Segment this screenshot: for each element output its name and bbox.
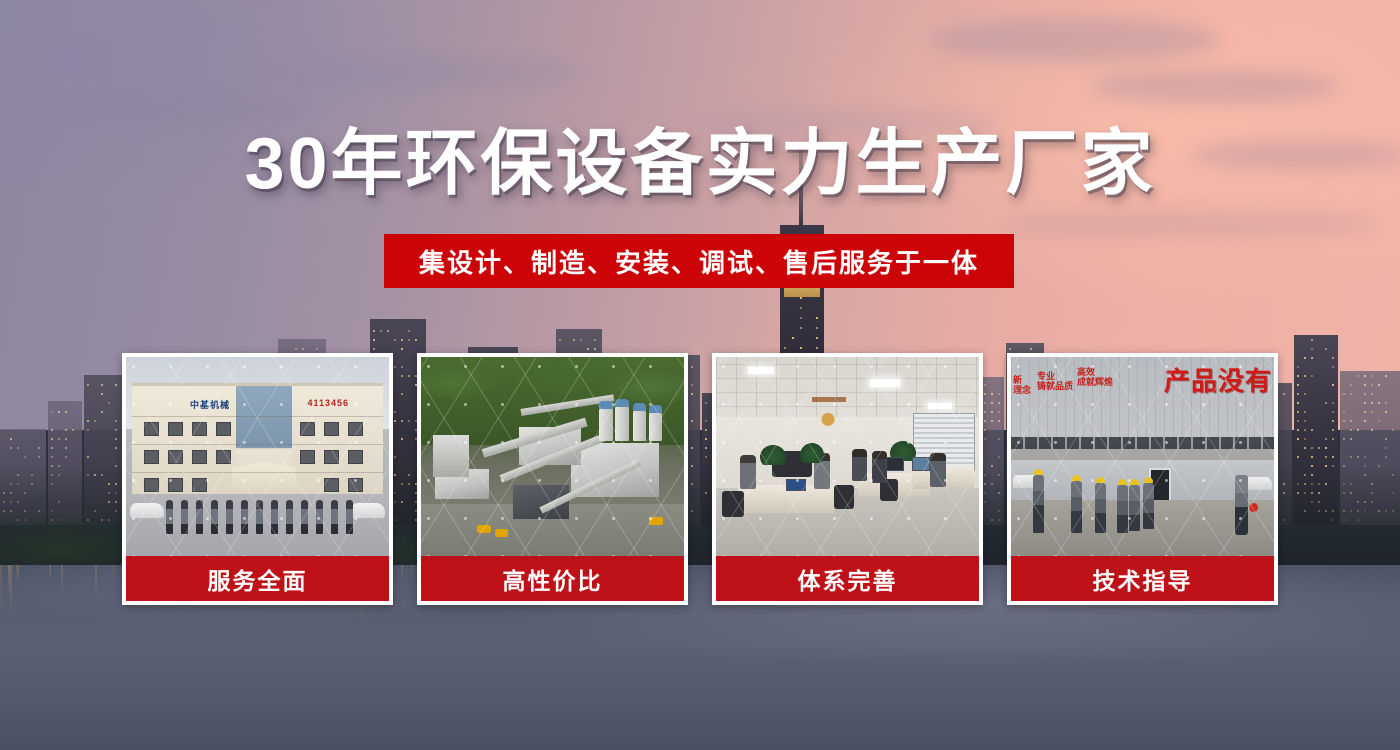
photo-1-window bbox=[324, 478, 339, 492]
building-window-light bbox=[1311, 348, 1313, 350]
building-window-light bbox=[87, 384, 89, 386]
building-window-light bbox=[1378, 420, 1380, 422]
photo-2-excavator bbox=[477, 525, 491, 533]
photo-2-silo bbox=[633, 409, 646, 441]
building-window-light bbox=[401, 348, 403, 350]
photo-4-worker bbox=[1071, 481, 1082, 533]
photo-4-worker bbox=[1143, 483, 1154, 529]
card-photo-office-building: 中基机械 4113456 bbox=[126, 357, 389, 556]
building-window-light bbox=[1325, 348, 1327, 350]
feature-card[interactable]: 高性价比 bbox=[417, 353, 688, 605]
tower-window-light bbox=[816, 337, 818, 339]
building-window-light bbox=[1297, 429, 1299, 431]
building-window-light bbox=[1332, 357, 1334, 359]
building-window-light bbox=[1350, 393, 1352, 395]
building-window-light bbox=[1304, 420, 1306, 422]
building-window-light bbox=[1350, 456, 1352, 458]
building-window-light bbox=[302, 348, 304, 350]
building-window-light bbox=[1311, 456, 1313, 458]
card-photo-workers-training: 产品没有 新理念 专业铸就品质 高效成就辉煌 bbox=[1011, 357, 1274, 556]
photo-4-red-helmet-held bbox=[1249, 503, 1258, 512]
building-window-light bbox=[1304, 393, 1306, 395]
building-window-light bbox=[1350, 420, 1352, 422]
building-window-light bbox=[1378, 402, 1380, 404]
card-caption: 服务全面 bbox=[126, 556, 389, 601]
page-title: 30年环保设备实力生产厂家 bbox=[0, 128, 1400, 200]
photo-2-silo-cap bbox=[633, 403, 646, 411]
building-window-light bbox=[17, 447, 19, 449]
photo-4-hard-hat bbox=[1096, 477, 1105, 483]
building-window-light bbox=[1364, 456, 1366, 458]
building-window-light bbox=[1009, 348, 1011, 350]
photo-1-staff bbox=[271, 500, 278, 534]
building-window-light bbox=[1297, 420, 1299, 422]
card-photo-office-interior bbox=[716, 357, 979, 556]
photo-4-slogan-small: 新理念 bbox=[1013, 375, 1031, 396]
photo-3-employee bbox=[740, 455, 756, 489]
building-window-light bbox=[373, 339, 375, 341]
building-window-light bbox=[594, 339, 596, 341]
feature-card-row: 中基机械 4113456 bbox=[122, 353, 1278, 605]
photo-1-floor-line bbox=[132, 416, 383, 417]
building-window-light bbox=[1385, 456, 1387, 458]
photo-1-staff bbox=[226, 500, 233, 534]
photo-1-window bbox=[300, 422, 315, 436]
card-caption: 技术指导 bbox=[1011, 556, 1274, 601]
building-window-light bbox=[87, 456, 89, 458]
photo-1-building: 中基机械 4113456 bbox=[132, 383, 383, 495]
photo-4-worker bbox=[1095, 483, 1106, 533]
building-window-light bbox=[1311, 339, 1313, 341]
photo-1-entrance-porch bbox=[232, 462, 296, 498]
building-window-light bbox=[115, 420, 117, 422]
building-window-light bbox=[1332, 384, 1334, 386]
building-window-light bbox=[1297, 384, 1299, 386]
photo-4-worker bbox=[1129, 485, 1140, 531]
photo-1-window bbox=[216, 450, 231, 464]
building-window-light bbox=[1364, 384, 1366, 386]
building-window-light bbox=[65, 411, 67, 413]
building-window-light bbox=[1357, 456, 1359, 458]
photo-3-wall-decal bbox=[814, 405, 842, 429]
building-window-light bbox=[1371, 384, 1373, 386]
photo-1-staff bbox=[286, 500, 293, 534]
building-window-light bbox=[1364, 393, 1366, 395]
photo-3-employee bbox=[852, 449, 867, 481]
photo-4-hard-hat bbox=[1130, 479, 1139, 485]
photo-3-monitor bbox=[886, 457, 904, 471]
tower-window-light bbox=[800, 317, 802, 319]
photo-1-scene: 中基机械 4113456 bbox=[126, 357, 389, 556]
photo-3-laptop bbox=[786, 479, 806, 491]
photo-1-company-sign: 中基机械 bbox=[190, 398, 230, 411]
tower-window-light bbox=[800, 347, 802, 349]
building-window-light bbox=[101, 393, 103, 395]
building-window-light bbox=[10, 438, 12, 440]
building-window-light bbox=[1364, 402, 1366, 404]
feature-card[interactable]: 中基机械 4113456 bbox=[122, 353, 393, 605]
building-window-light bbox=[1311, 429, 1313, 431]
building-window-light bbox=[51, 456, 53, 458]
tower-window-light bbox=[800, 307, 802, 309]
photo-1-staff bbox=[301, 500, 308, 534]
building-window-light bbox=[94, 420, 96, 422]
photo-3-employee bbox=[930, 453, 946, 487]
building-window-light bbox=[115, 429, 117, 431]
cloud-1 bbox=[930, 18, 1220, 62]
photo-1-phone-number: 4113456 bbox=[307, 398, 349, 408]
cloud-5 bbox=[250, 58, 580, 88]
building-window-light bbox=[1385, 375, 1387, 377]
photo-1-staff bbox=[256, 500, 263, 534]
building-window-light bbox=[1343, 438, 1345, 440]
photo-2-silo-cap bbox=[615, 399, 629, 407]
building-window-light bbox=[408, 330, 410, 332]
photo-3-scene bbox=[716, 357, 979, 556]
photo-1-window bbox=[168, 450, 183, 464]
photo-3-employee bbox=[872, 451, 887, 483]
photo-1-staff bbox=[181, 500, 188, 534]
building-window-light bbox=[1350, 429, 1352, 431]
feature-card[interactable]: 体系完善 bbox=[712, 353, 983, 605]
tower-window-light bbox=[784, 347, 786, 349]
building-window-light bbox=[1304, 411, 1306, 413]
building-window-light bbox=[1311, 375, 1313, 377]
building-window-light bbox=[387, 330, 389, 332]
building-window-light bbox=[51, 429, 53, 431]
building-window-light bbox=[58, 411, 60, 413]
photo-2-workshop bbox=[433, 435, 469, 477]
building-window-light bbox=[1371, 429, 1373, 431]
subtitle-text: 集设计、制造、安装、调试、售后服务于一体 bbox=[419, 243, 979, 280]
photo-3-ceiling-light bbox=[870, 379, 900, 387]
photo-4-slogan-small: 专业铸就品质 bbox=[1037, 371, 1073, 392]
card-caption: 高性价比 bbox=[421, 556, 684, 601]
photo-1-floor-line bbox=[132, 444, 383, 445]
building-window-light bbox=[87, 420, 89, 422]
subtitle-banner: 集设计、制造、安装、调试、售后服务于一体 bbox=[384, 234, 1014, 288]
building-window-light bbox=[1318, 447, 1320, 449]
photo-1-window bbox=[144, 422, 159, 436]
building-window-light bbox=[58, 438, 60, 440]
building-window-light bbox=[1297, 366, 1299, 368]
building-window-light bbox=[1385, 447, 1387, 449]
photo-1-floor-line bbox=[132, 472, 383, 473]
photo-1-staff bbox=[196, 500, 203, 534]
building-window-light bbox=[1297, 438, 1299, 440]
photo-4-slogan: 产品没有 bbox=[1164, 361, 1272, 398]
photo-3-monitor bbox=[912, 457, 930, 471]
photo-1-car bbox=[130, 503, 164, 518]
building-window-light bbox=[1350, 438, 1352, 440]
building-window-light bbox=[1343, 420, 1345, 422]
building-window-light bbox=[1332, 456, 1334, 458]
building-window-light bbox=[1364, 420, 1366, 422]
building-window-light bbox=[1371, 402, 1373, 404]
building-window-light bbox=[38, 456, 40, 458]
building-window-light bbox=[1343, 411, 1345, 413]
building-window-light bbox=[1385, 438, 1387, 440]
building-window-light bbox=[115, 438, 117, 440]
building-window-light bbox=[1332, 420, 1334, 422]
tower-window-light bbox=[816, 317, 818, 319]
photo-3-plant bbox=[760, 445, 786, 465]
building-window-light bbox=[1350, 384, 1352, 386]
photo-4-worker bbox=[1033, 475, 1044, 533]
building-window-light bbox=[1297, 375, 1299, 377]
photo-1-window bbox=[348, 422, 363, 436]
photo-1-staff bbox=[316, 500, 323, 534]
building-window-light bbox=[65, 438, 67, 440]
photo-4-hard-hat bbox=[1034, 469, 1043, 475]
building-window-light bbox=[115, 384, 117, 386]
building-window-light bbox=[1343, 393, 1345, 395]
photo-3-ceiling-light bbox=[928, 403, 952, 409]
photo-1-window bbox=[168, 478, 183, 492]
photo-4-scene: 产品没有 新理念 专业铸就品质 高效成就辉煌 bbox=[1011, 357, 1274, 556]
photo-2-silo bbox=[649, 411, 662, 441]
photo-2-excavator bbox=[649, 517, 663, 525]
photo-3-plant bbox=[800, 443, 824, 463]
photo-2-excavator bbox=[495, 529, 508, 537]
building-window-light bbox=[1304, 438, 1306, 440]
photo-4-hard-hat bbox=[1072, 475, 1081, 481]
building-window-light bbox=[1030, 348, 1032, 350]
photo-3-chair bbox=[834, 485, 854, 509]
building-window-light bbox=[51, 447, 53, 449]
building-window-light bbox=[101, 384, 103, 386]
building-window-light bbox=[1297, 402, 1299, 404]
building-window-light bbox=[51, 438, 53, 440]
photo-1-staff bbox=[331, 500, 338, 534]
building-window-light bbox=[1283, 393, 1285, 395]
building-window-light bbox=[1364, 411, 1366, 413]
building-window-light bbox=[408, 339, 410, 341]
building-window-light bbox=[65, 447, 67, 449]
photo-1-window bbox=[144, 450, 159, 464]
photo-1-window bbox=[192, 422, 207, 436]
photo-2-silo bbox=[615, 405, 629, 441]
building-window-light bbox=[115, 447, 117, 449]
photo-4-hard-hat bbox=[1144, 477, 1153, 483]
building-window-light bbox=[594, 348, 596, 350]
building-window-light bbox=[1325, 438, 1327, 440]
building-window-light bbox=[1297, 393, 1299, 395]
photo-1-window bbox=[192, 478, 207, 492]
building-window-light bbox=[373, 348, 375, 350]
building-window-light bbox=[1311, 447, 1313, 449]
photo-4-factory-wall: 产品没有 新理念 专业铸就品质 高效成就辉煌 bbox=[1011, 357, 1274, 449]
building-window-light bbox=[1378, 384, 1380, 386]
building-window-light bbox=[587, 348, 589, 350]
tower-window-light bbox=[816, 327, 818, 329]
building-window-light bbox=[1304, 375, 1306, 377]
building-window-light bbox=[24, 456, 26, 458]
photo-4-hard-hat bbox=[1118, 479, 1127, 485]
building-window-light bbox=[1332, 429, 1334, 431]
photo-2-scene bbox=[421, 357, 684, 556]
building-window-light bbox=[1297, 411, 1299, 413]
tower-window-light bbox=[800, 297, 802, 299]
photo-1-window bbox=[216, 422, 231, 436]
photo-4-supervisor bbox=[1235, 475, 1248, 535]
card-photo-plant-aerial bbox=[421, 357, 684, 556]
photo-1-window bbox=[192, 450, 207, 464]
building-window-light bbox=[1385, 411, 1387, 413]
building-window-light bbox=[1304, 429, 1306, 431]
photo-4-clerestory-windows bbox=[1011, 437, 1274, 449]
building-window-light bbox=[573, 339, 575, 341]
building-window-light bbox=[1311, 357, 1313, 359]
tower-window-light bbox=[800, 327, 802, 329]
building-window-light bbox=[72, 429, 74, 431]
photo-1-staff bbox=[241, 500, 248, 534]
building-window-light bbox=[415, 339, 417, 341]
cloud-6 bbox=[40, 96, 320, 122]
building-window-light bbox=[316, 348, 318, 350]
building-window-light bbox=[101, 411, 103, 413]
cloud-7 bbox=[1000, 210, 1380, 238]
building-window-light bbox=[295, 348, 297, 350]
building-window-light bbox=[1325, 456, 1327, 458]
photo-1-staff bbox=[346, 500, 353, 534]
photo-2-silo-cap bbox=[599, 401, 613, 409]
photo-2-silo-cap bbox=[649, 405, 662, 413]
photo-1-window bbox=[300, 450, 315, 464]
building-window-light bbox=[87, 429, 89, 431]
photo-1-window bbox=[168, 422, 183, 436]
building-window-light bbox=[1392, 429, 1394, 431]
building-window-light bbox=[65, 429, 67, 431]
photo-3-chair bbox=[722, 491, 744, 517]
photo-2-silo bbox=[599, 407, 613, 441]
building-window-light bbox=[1371, 375, 1373, 377]
building-window-light bbox=[1357, 375, 1359, 377]
building-window-light bbox=[373, 330, 375, 332]
building-window-light bbox=[1325, 402, 1327, 404]
building-window-light bbox=[1332, 366, 1334, 368]
building-window-light bbox=[1371, 393, 1373, 395]
building-window-light bbox=[108, 402, 110, 404]
building-window-light bbox=[1357, 429, 1359, 431]
building-window-light bbox=[65, 456, 67, 458]
card-caption: 体系完善 bbox=[716, 556, 979, 601]
photo-3-wall-decal-text bbox=[812, 397, 846, 402]
photo-3-ceiling-light bbox=[748, 367, 774, 374]
feature-card[interactable]: 产品没有 新理念 专业铸就品质 高效成就辉煌 bbox=[1007, 353, 1278, 605]
tower-window-light bbox=[816, 347, 818, 349]
photo-1-staff bbox=[166, 500, 173, 534]
tower-window-light bbox=[792, 337, 794, 339]
photo-1-staff bbox=[211, 500, 218, 534]
photo-1-window bbox=[324, 422, 339, 436]
building-window-light bbox=[1304, 357, 1306, 359]
building-window-light bbox=[1325, 447, 1327, 449]
building-window-light bbox=[1332, 411, 1334, 413]
photo-4-slogan-small: 高效成就辉煌 bbox=[1077, 367, 1113, 388]
photo-1-window bbox=[348, 478, 363, 492]
building-window-light bbox=[380, 330, 382, 332]
building-window-light bbox=[401, 339, 403, 341]
building-window-light bbox=[1332, 438, 1334, 440]
building-window-light bbox=[1364, 375, 1366, 377]
building-window-light bbox=[580, 339, 582, 341]
building-window-light bbox=[559, 339, 561, 341]
photo-1-car bbox=[351, 503, 385, 518]
building-window-light bbox=[1332, 402, 1334, 404]
photo-1-window bbox=[324, 450, 339, 464]
photo-1-window bbox=[348, 450, 363, 464]
building-window-light bbox=[10, 447, 12, 449]
photo-1-window bbox=[144, 478, 159, 492]
building-window-light bbox=[394, 339, 396, 341]
building-window-light bbox=[1297, 456, 1299, 458]
building-window-light bbox=[1385, 402, 1387, 404]
building-window-light bbox=[51, 411, 53, 413]
hero-banner: 30年环保设备实力生产厂家 集设计、制造、安装、调试、售后服务于一体 中基机械 … bbox=[0, 0, 1400, 750]
building-window-light bbox=[1371, 411, 1373, 413]
building-window-light bbox=[38, 447, 40, 449]
photo-4-worker bbox=[1117, 485, 1128, 533]
building-window-light bbox=[1304, 447, 1306, 449]
cloud-2 bbox=[1090, 70, 1340, 104]
